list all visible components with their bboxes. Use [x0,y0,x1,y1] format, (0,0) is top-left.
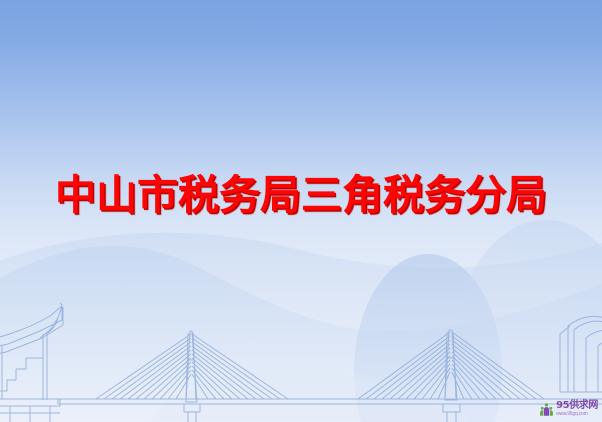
sprout-people-logo-icon [539,402,554,417]
page-banner: 中山市税务局三角税务分局 95供求网 www.95gq.com [0,0,602,422]
cable-stayed-bridge-left [58,331,300,422]
site-watermark: 95供求网 www.95gq.com [539,401,598,417]
concentric-arc-building [560,316,602,392]
watermark-site-name: 95供求网 [556,401,598,411]
page-title: 中山市税务局三角税务分局 [55,171,547,219]
landmark-linework-layer [0,0,602,422]
background-waves-layer [0,0,602,422]
soft-dome-hill [150,220,602,422]
chinese-pavilion-outline [0,303,63,422]
banner-title: 中山市税务局三角税务分局 [0,171,602,219]
watermark-site-url: www.95gq.com [556,412,598,417]
watermark-text: 95供求网 www.95gq.com [556,401,598,417]
rolling-hill-wave-right [0,233,602,422]
rolling-hill-wave-left [0,246,602,422]
